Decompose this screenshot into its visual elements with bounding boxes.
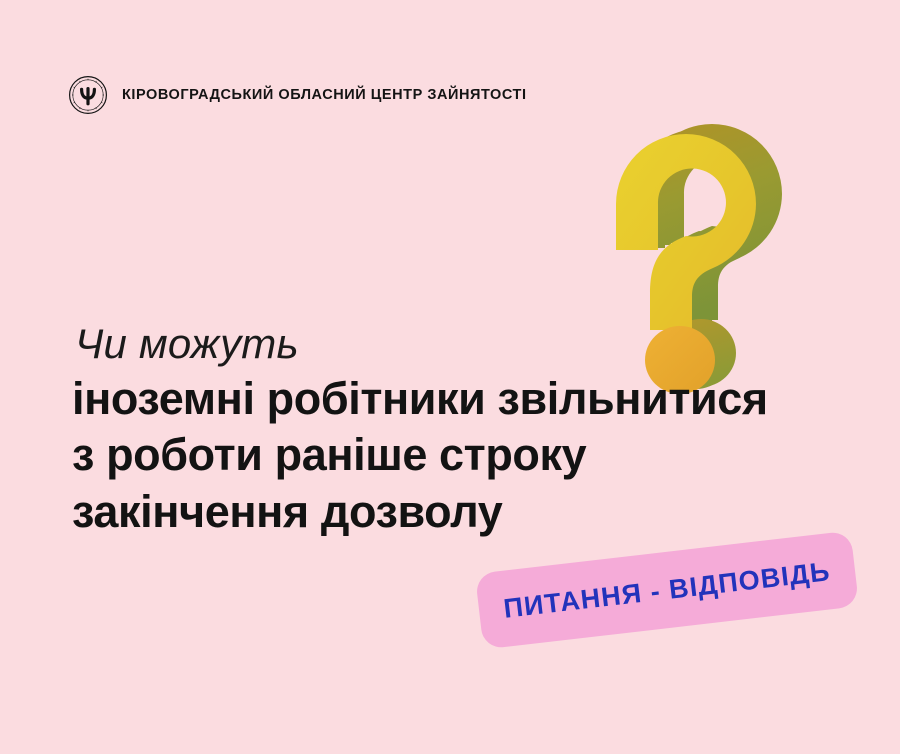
social-card: КІРОВОГРАДСЬКИЙ ОБЛАСНИЙ ЦЕНТР ЗАЙНЯТОСТ…	[0, 0, 900, 754]
headline-line-2: з роботи раніше строку	[72, 427, 862, 484]
header: КІРОВОГРАДСЬКИЙ ОБЛАСНИЙ ЦЕНТР ЗАЙНЯТОСТ…	[68, 74, 527, 116]
badge-label: ПИТАННЯ - ВІДПОВІДЬ	[502, 558, 832, 623]
headline-block: Чи можуть іноземні робітники звільнитися…	[72, 322, 862, 541]
headline-line-3: закінчення дозволу	[72, 484, 862, 541]
headline-kicker: Чи можуть	[75, 322, 862, 367]
question-answer-badge: ПИТАННЯ - ВІДПОВІДЬ	[475, 531, 859, 650]
headline-line-1: іноземні робітники звільнитися	[72, 371, 862, 428]
organization-name: КІРОВОГРАДСЬКИЙ ОБЛАСНИЙ ЦЕНТР ЗАЙНЯТОСТ…	[122, 88, 527, 103]
employment-center-emblem-icon	[68, 75, 108, 115]
